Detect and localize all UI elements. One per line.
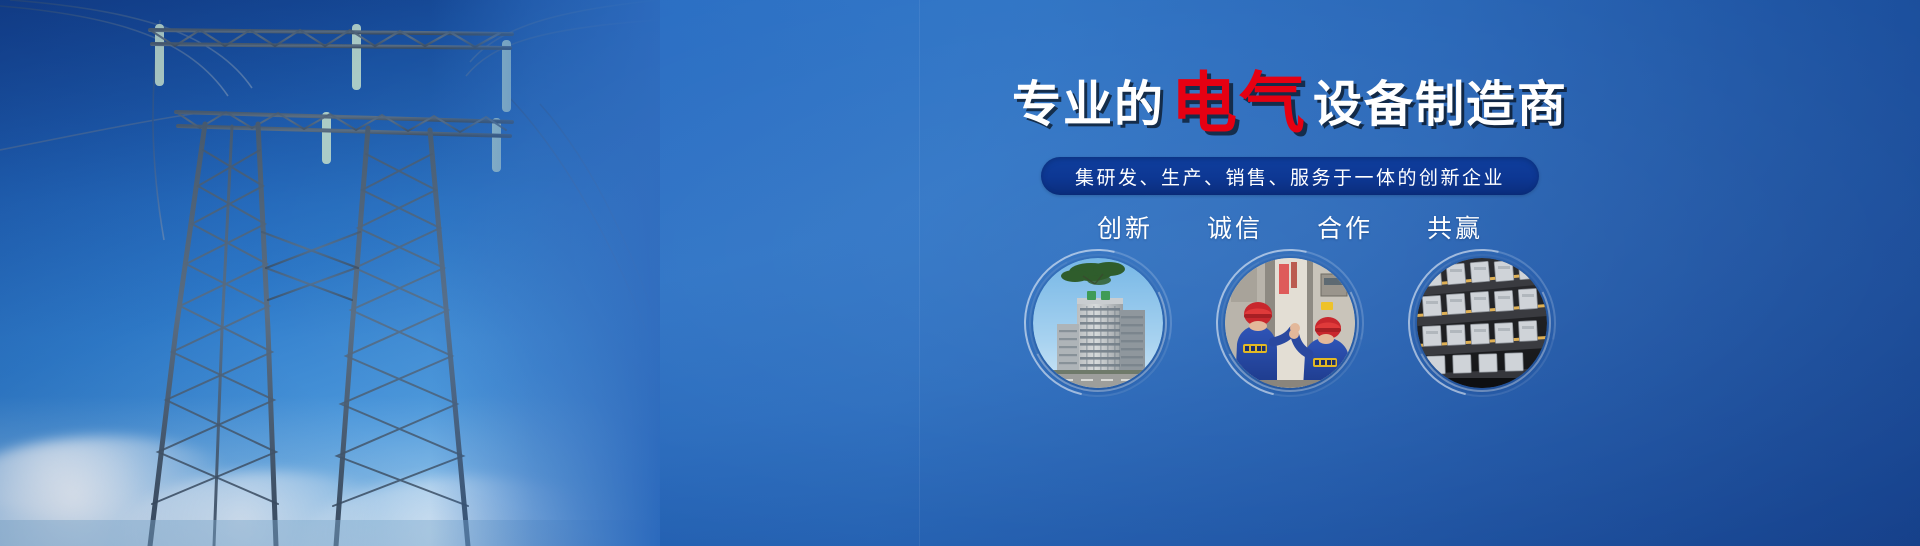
circle-image-office-building [1033, 258, 1163, 388]
circle-image-technicians [1225, 258, 1355, 388]
photo-circle-list [1033, 258, 1547, 388]
tagline-text: 集研发、生产、销售、服务于一体的创新企业 [1075, 163, 1505, 190]
photo-circle-product-display[interactable] [1417, 258, 1547, 388]
keyword-item: 诚信 [1207, 209, 1263, 245]
keyword-item: 创新 [1097, 209, 1153, 245]
hero-banner: 专业的电气设备制造商 集研发、生产、销售、服务于一体的创新企业 创新 诚信 合作… [0, 0, 1920, 546]
keyword-item: 共赢 [1427, 209, 1483, 245]
circle-image-product-display [1417, 258, 1547, 388]
tagline-pill: 集研发、生产、销售、服务于一体的创新企业 [1041, 157, 1539, 195]
photo-circle-office-building[interactable] [1033, 258, 1163, 388]
headline-part-1: 专业的 [1012, 76, 1165, 133]
banner-content: 专业的电气设备制造商 集研发、生产、销售、服务于一体的创新企业 创新 诚信 合作… [660, 0, 1920, 546]
headline-highlight: 电气 [1171, 65, 1307, 142]
headline-part-2: 设备制造商 [1313, 76, 1568, 133]
page-title: 专业的电气设备制造商 [660, 66, 1920, 132]
keyword-list: 创新 诚信 合作 共赢 [1097, 209, 1483, 245]
photo-circle-technicians[interactable] [1225, 258, 1355, 388]
keyword-item: 合作 [1317, 209, 1373, 245]
